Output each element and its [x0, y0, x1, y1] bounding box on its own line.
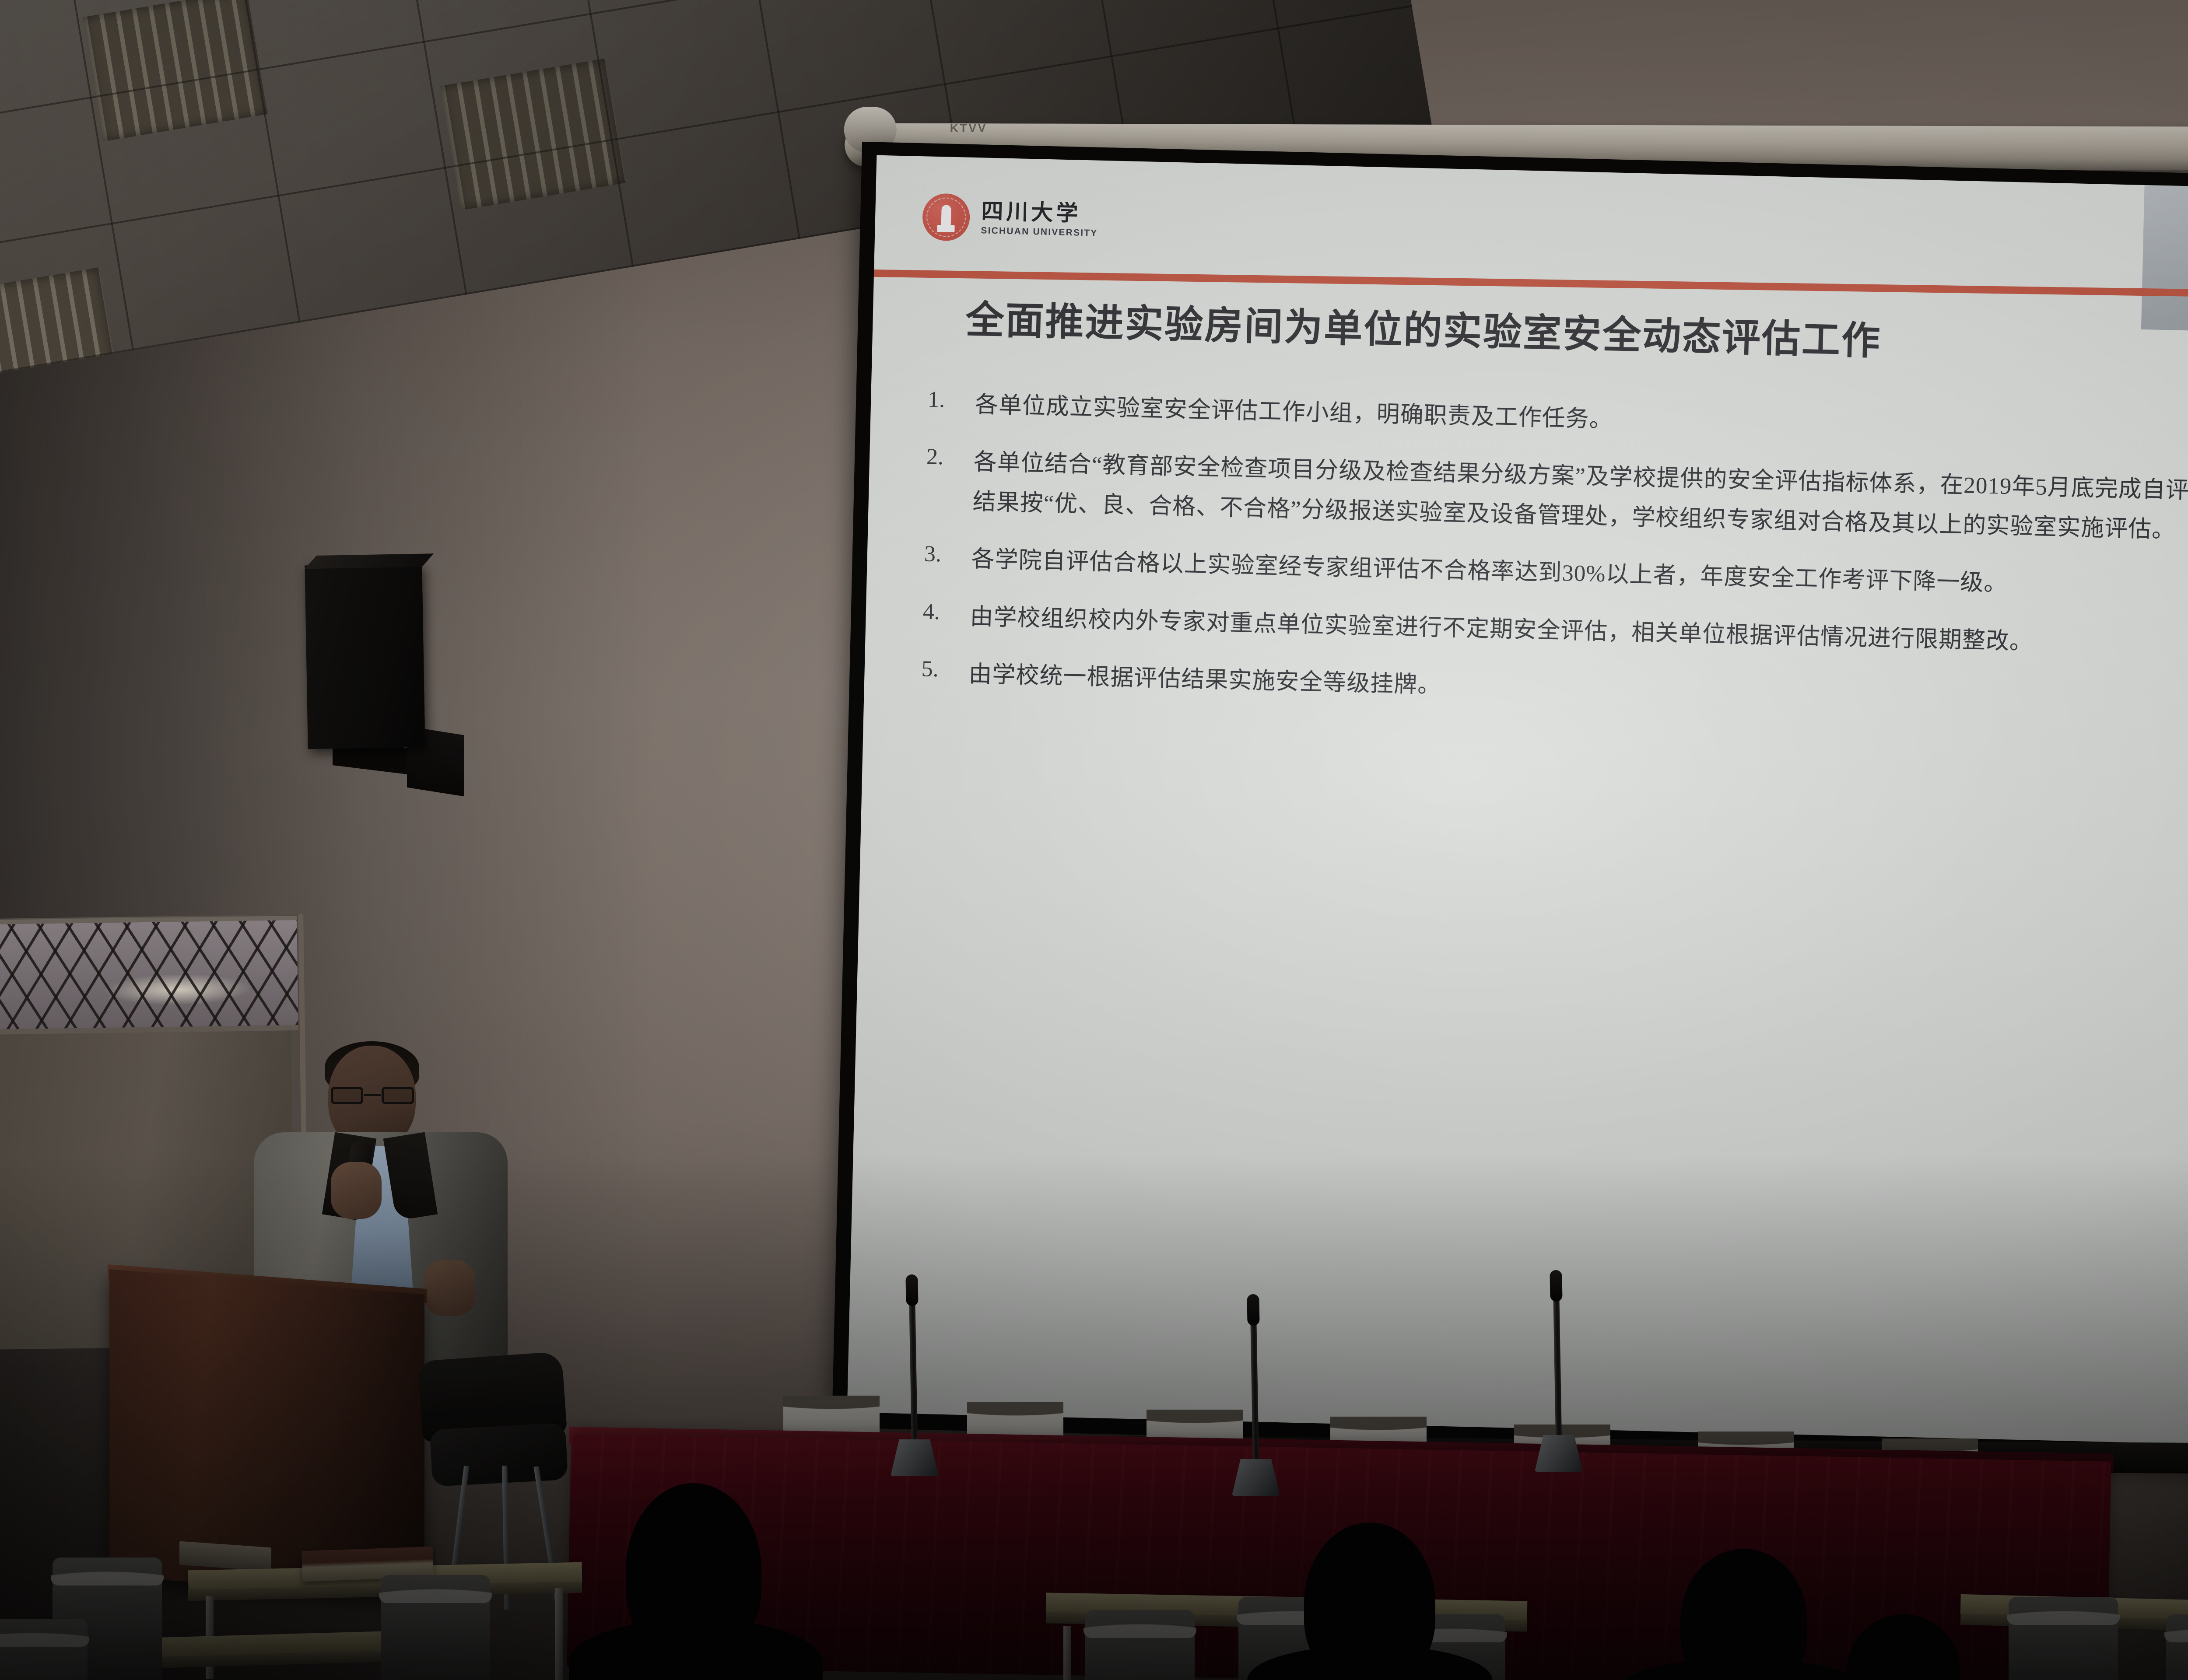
bullet-number: 4.	[922, 596, 956, 637]
bullet-text: 各学院自评估合格以上实验室经专家组评估不合格率达到30%以上者，年度安全工作考评…	[971, 540, 2008, 604]
bullet-text: 各单位结合“教育部安全检查项目分级及检查结果分级方案”及学校提供的安全评估指标体…	[972, 442, 2188, 555]
bullet-number: 2.	[925, 441, 959, 522]
wall-speaker	[305, 563, 425, 749]
floor-shadow-gradient	[0, 1155, 2188, 1680]
lecture-hall-scene: KTVV 四川大学 SICHUAN UNIVERSITY	[0, 0, 2188, 1680]
screen-brand-label: KTVV	[950, 121, 987, 135]
bullet-number: 3.	[924, 539, 957, 579]
logo-name-en: SICHUAN UNIVERSITY	[981, 225, 1098, 238]
logo-text-block: 四川大学 SICHUAN UNIVERSITY	[981, 200, 1098, 238]
glasses-bridge	[364, 1094, 381, 1096]
bullet-text: 由学校统一根据评估结果实施安全等级挂牌。	[968, 654, 1441, 706]
logo-name-cn: 四川大学	[981, 200, 1098, 224]
eyeglasses-icon	[331, 1087, 414, 1104]
lens-right	[382, 1087, 414, 1104]
skyscraper-photo	[2141, 185, 2188, 336]
seal-tower-glyph	[941, 205, 951, 232]
speaker-top-face	[305, 553, 433, 569]
list-item: 5. 由学校统一根据评估结果实施安全等级挂牌。	[921, 653, 2188, 727]
bullet-text: 由学校组织校内外专家对重点单位实验室进行不定期安全评估，相关单位根据评估情况进行…	[970, 597, 2034, 662]
transom-window	[0, 916, 298, 1035]
bullet-number: 5.	[921, 653, 954, 694]
bullet-text: 各单位成立实验室安全评估工作小组，明确职责及工作任务。	[975, 385, 1613, 440]
slide-title: 全面推进实验房间为单位的实验室安全动态评估工作	[965, 289, 2188, 374]
diamond-lattice-grille	[0, 920, 298, 1029]
lens-left	[331, 1087, 363, 1104]
sichuan-university-seal-icon	[922, 193, 971, 241]
bullet-number: 1.	[927, 384, 961, 425]
slide-bullet-list: 1. 各单位成立实验室安全评估工作小组，明确职责及工作任务。 2. 各单位结合“…	[921, 384, 2188, 745]
university-logo: 四川大学 SICHUAN UNIVERSITY	[922, 193, 1099, 244]
list-item: 2. 各单位结合“教育部安全检查项目分级及检查结果分级方案”及学校提供的安全评估…	[925, 441, 2188, 555]
